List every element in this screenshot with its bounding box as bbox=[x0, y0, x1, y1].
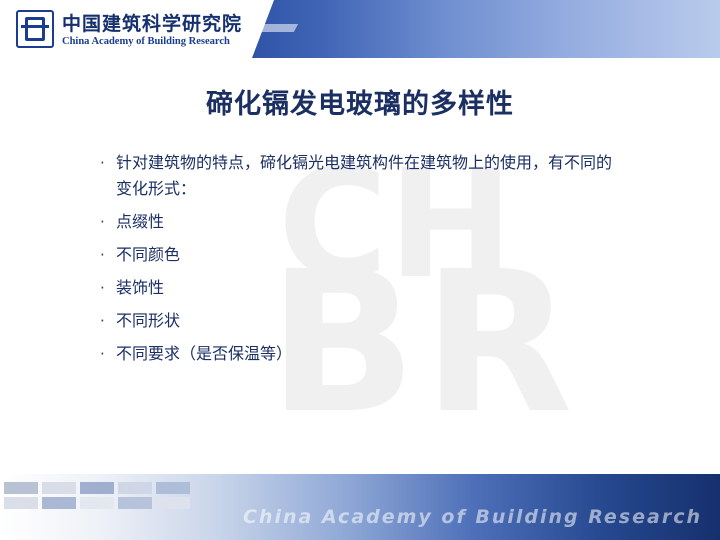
footer-color-blocks bbox=[0, 482, 270, 510]
list-item: · 点缀性 bbox=[100, 209, 620, 235]
list-item-label: 不同形状 bbox=[116, 308, 180, 334]
footer-block bbox=[42, 497, 76, 509]
footer-block bbox=[156, 482, 190, 494]
list-item: · 不同形状 bbox=[100, 308, 620, 334]
org-name-en: China Academy of Building Research bbox=[62, 36, 230, 47]
cabr-building-logo-icon bbox=[16, 10, 54, 48]
list-item-label: 不同颜色 bbox=[116, 242, 180, 268]
list-item: · 不同要求（是否保温等） bbox=[100, 341, 620, 367]
list-item: · 不同颜色 bbox=[100, 242, 620, 268]
bullet-marker-icon: · bbox=[100, 209, 116, 235]
bullet-marker-icon: · bbox=[100, 242, 116, 268]
bullet-list: · 针对建筑物的特点，碲化镉光电建筑构件在建筑物上的使用，有不同的变化形式： ·… bbox=[100, 150, 620, 374]
list-item-label: 点缀性 bbox=[116, 209, 164, 235]
bullet-marker-icon: · bbox=[100, 275, 116, 301]
list-item-label: 针对建筑物的特点，碲化镉光电建筑构件在建筑物上的使用，有不同的变化形式： bbox=[116, 150, 620, 202]
footer-block bbox=[4, 482, 38, 494]
logo-plate: 中国建筑科学研究院 China Academy of Building Rese… bbox=[0, 0, 252, 58]
footer-block bbox=[118, 497, 152, 509]
footer-block bbox=[80, 482, 114, 494]
footer-block bbox=[4, 497, 38, 509]
footer-block bbox=[156, 497, 190, 509]
org-name-cn: 中国建筑科学研究院 bbox=[62, 9, 242, 36]
list-item-label: 装饰性 bbox=[116, 275, 164, 301]
list-item: · 针对建筑物的特点，碲化镉光电建筑构件在建筑物上的使用，有不同的变化形式： bbox=[100, 150, 620, 202]
footer-block bbox=[42, 482, 76, 494]
page-title: 碲化镉发电玻璃的多样性 bbox=[0, 82, 720, 121]
slide-canvas: C H BR 中国建筑科学研究院 China Academy of Buildi… bbox=[0, 0, 720, 540]
list-item: · 装饰性 bbox=[100, 275, 620, 301]
bullet-marker-icon: · bbox=[100, 150, 116, 176]
footer-block bbox=[118, 482, 152, 494]
footer-block bbox=[80, 497, 114, 509]
footer-banner: China Academy of Building Research bbox=[0, 474, 720, 540]
list-item-label: 不同要求（是否保温等） bbox=[116, 341, 292, 367]
footer-text: China Academy of Building Research bbox=[243, 506, 702, 528]
header-banner: 中国建筑科学研究院 China Academy of Building Rese… bbox=[0, 0, 720, 58]
bullet-marker-icon: · bbox=[100, 341, 116, 367]
bullet-marker-icon: · bbox=[100, 308, 116, 334]
